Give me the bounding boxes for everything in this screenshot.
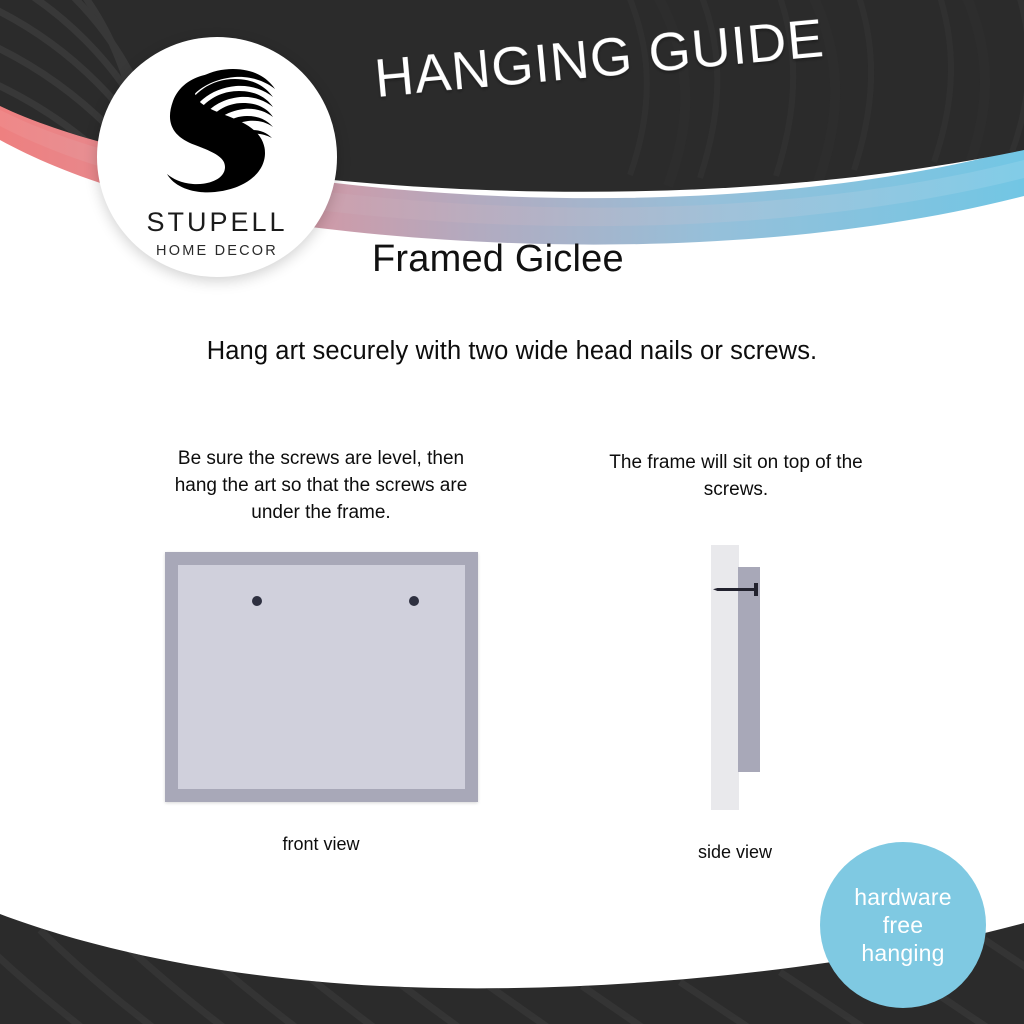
front-view-label: front view — [160, 834, 482, 855]
hardware-free-hanging-badge-text: hardware free hanging — [854, 883, 952, 967]
front-view-screw-left — [252, 596, 262, 606]
side-view-caption: The frame will sit on top of the screws. — [598, 450, 874, 504]
lead-instruction-text: Hang art securely with two wide head nai… — [0, 337, 1024, 366]
badge-line-1: hardware — [854, 884, 952, 910]
hanging-guide-page: HANGING GUIDE STUPELL HOME DECOR Framed … — [0, 0, 1024, 1024]
front-view-caption: Be sure the screws are level, then hang … — [160, 446, 482, 527]
side-view-screw-shaft-icon — [713, 588, 757, 591]
side-view-wall — [711, 545, 739, 810]
brand-tagline: HOME DECOR — [97, 244, 337, 259]
hardware-free-hanging-badge: hardware free hanging — [820, 842, 986, 1008]
front-view-diagram — [165, 552, 478, 802]
brand-logo-badge: STUPELL HOME DECOR — [97, 37, 337, 277]
badge-line-2: free — [883, 912, 923, 938]
brand-name: STUPELL — [97, 209, 337, 236]
side-view-frame — [738, 567, 760, 772]
stupell-swoosh-logo-icon — [155, 61, 279, 193]
front-view-mat — [178, 565, 465, 789]
side-view-label: side view — [610, 842, 860, 863]
page-title: HANGING GUIDE — [372, 7, 827, 110]
front-view-screw-right — [409, 596, 419, 606]
badge-line-3: hanging — [861, 940, 944, 966]
brand-wordmark: STUPELL HOME DECOR — [97, 209, 337, 259]
product-type-heading: Framed Giclee — [372, 238, 624, 281]
side-view-diagram — [700, 545, 780, 810]
side-view-screw-head-icon — [754, 583, 758, 596]
